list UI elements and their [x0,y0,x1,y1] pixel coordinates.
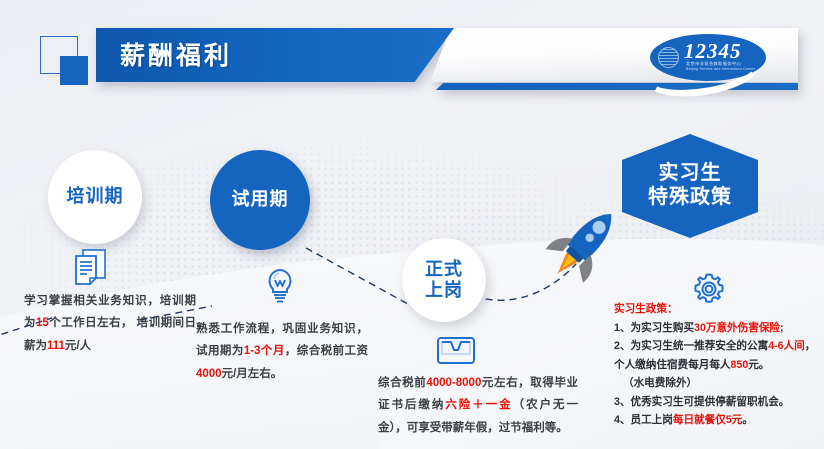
intern-policy-list: 1、为实习生购买30万意外伤害保险;2、为实习生统一推荐安全的公寓4-6人间，个… [614,319,820,430]
document-icon [74,248,108,291]
stage-body-formal: 综合税前4000-8000元左右，取得毕业证书后缴纳六险＋一金（农户无一金），可… [378,372,578,439]
stage-label-line1: 正式 [425,259,463,279]
stage-label: 培训期 [67,186,124,207]
stage-node-formal[interactable]: 正式 上岗 [402,238,486,322]
slide-canvas: 薪酬福利 12345 北京市非紧急救助服务中心 Beijing Service … [0,0,824,449]
stage-label: 试用期 [232,189,289,210]
intern-policy-item: （水电费除外） [614,374,820,393]
stage-body-probation: 熟悉工作流程，巩固业务知识，试用期为1-3个月，综合税前工资4000元/月左右。 [196,318,368,385]
logo-subtitle-en: Beijing Service and Information Center [686,67,755,71]
intern-policy-item: 1、为实习生购买30万意外伤害保险; [614,319,820,338]
intern-policy-title: 实习生政策： [614,300,820,319]
intern-policy-block: 实习生政策： 1、为实习生购买30万意外伤害保险;2、为实习生统一推荐安全的公寓… [614,300,820,430]
stage-label-wrap: 正式 上岗 [425,259,463,301]
stage-node-probation[interactable]: 试用期 [210,150,310,250]
rocket-icon [540,198,630,288]
globe-icon [658,47,679,68]
logo-12345: 12345 北京市非紧急救助服务中心 Beijing Service and I… [640,30,770,85]
intern-policy-item: 2、为实习生统一推荐安全的公寓4-6人间，个人缴纳住宿费每月每人850元。 [614,337,820,374]
stage-label-line1: 实习生 [659,162,722,184]
square-filled-shape [60,56,88,85]
inbox-tray-icon [436,334,476,371]
intern-policy-item: 3、优秀实习生可提供停薪留职机会。 [614,393,820,412]
stage-body-training: 学习掌握相关业务知识，培训期为15个工作日左右， 培训期间日薪为111元/人 [24,290,196,357]
stage-label-wrap: 实习生 特殊政策 [648,162,732,209]
stage-node-training[interactable]: 培训期 [48,150,142,244]
lightbulb-icon [265,268,295,309]
stage-label-line2: 上岗 [425,280,463,300]
intern-policy-item: 4、员工上岗每日就餐仅5元。 [614,411,820,430]
decorative-squares [40,36,92,86]
page-title: 薪酬福利 [120,36,232,72]
stage-label-line2: 特殊政策 [648,186,732,208]
